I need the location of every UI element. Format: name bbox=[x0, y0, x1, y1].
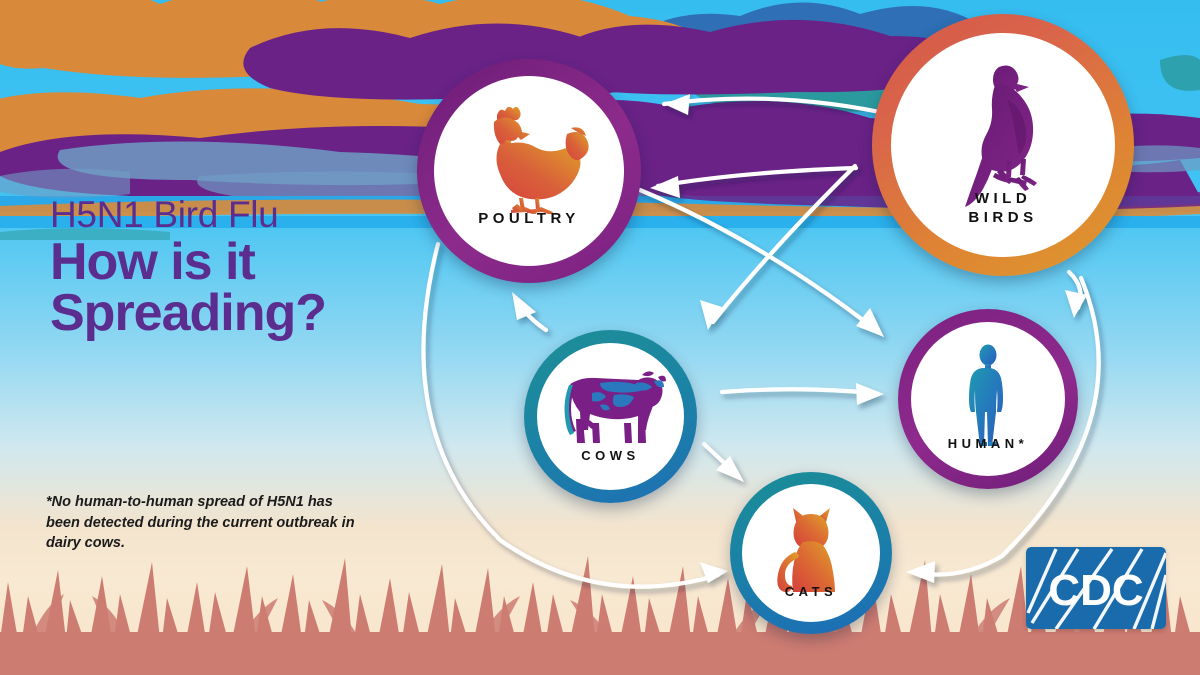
cdc-logo[interactable]: CDC bbox=[1026, 547, 1166, 629]
arrow-cows-to-human bbox=[722, 383, 884, 405]
arrow-cows-to-poultry bbox=[512, 292, 546, 330]
page-title-line2: Spreading? bbox=[50, 284, 326, 342]
cdc-logo-mark: CDC bbox=[1026, 547, 1166, 629]
human-icon bbox=[964, 344, 1012, 446]
node-cows-label: COWS bbox=[537, 448, 684, 464]
node-human-face: HUMAN* bbox=[911, 322, 1065, 476]
node-human-label: HUMAN* bbox=[911, 436, 1065, 452]
infographic-canvas: H5N1 Bird Flu How is it Spreading? *No h… bbox=[0, 0, 1200, 675]
page-title-line1: How is it bbox=[50, 233, 255, 291]
node-poultry[interactable]: POULTRY bbox=[417, 59, 641, 283]
page-title: How is it Spreading? bbox=[50, 237, 450, 339]
node-cats[interactable]: CATS bbox=[730, 472, 892, 634]
chicken-icon bbox=[467, 102, 591, 214]
arrow-wildbirds-to-cows bbox=[700, 166, 855, 330]
node-poultry-face: POULTRY bbox=[434, 76, 624, 266]
title-block: H5N1 Bird Flu How is it Spreading? bbox=[50, 196, 450, 339]
node-human[interactable]: HUMAN* bbox=[898, 309, 1078, 489]
node-wild-birds-label-line2: BIRDS bbox=[968, 209, 1037, 226]
node-cats-label: CATS bbox=[742, 584, 880, 600]
arrow-cows-to-cats bbox=[704, 444, 744, 482]
node-wild-birds-face: WILD BIRDS bbox=[891, 33, 1115, 257]
cdc-logo-text: CDC bbox=[1048, 566, 1143, 615]
arrow-wildbirds-to-poultry-top bbox=[664, 94, 880, 115]
arrow-wildbirds-to-human bbox=[1065, 272, 1087, 318]
node-cows-face: COWS bbox=[537, 343, 684, 490]
node-cats-face: CATS bbox=[742, 484, 880, 622]
footnote-text: *No human-to-human spread of H5N1 has be… bbox=[46, 492, 356, 554]
node-cows[interactable]: COWS bbox=[524, 330, 697, 503]
node-wild-birds-label: WILD BIRDS bbox=[891, 190, 1115, 227]
cat-icon bbox=[773, 506, 849, 594]
cow-icon bbox=[556, 369, 666, 447]
node-poultry-label: POULTRY bbox=[434, 210, 624, 228]
node-wild-birds-label-line1: WILD bbox=[975, 190, 1031, 207]
page-kicker: H5N1 Bird Flu bbox=[50, 196, 450, 233]
node-wild-birds[interactable]: WILD BIRDS bbox=[872, 14, 1134, 276]
